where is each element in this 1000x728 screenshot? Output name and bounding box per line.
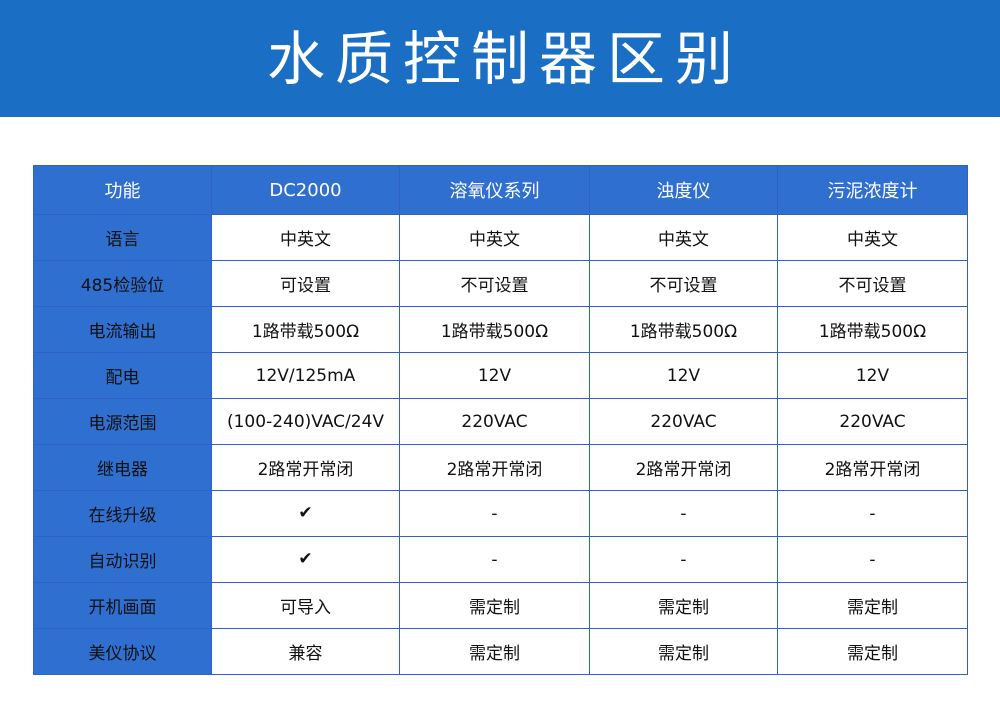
row-label: 美仪协议 [34, 629, 212, 675]
cell-value: 12V [590, 353, 778, 399]
table-header-row: 功能DC2000溶氧仪系列浊度仪污泥浓度计 [34, 166, 968, 215]
cell-value: 1路带载500Ω [400, 307, 590, 353]
table-row: 继电器2路常开常闭2路常开常闭2路常开常闭2路常开常闭 [34, 445, 968, 491]
cell-value: 1路带载500Ω [590, 307, 778, 353]
table-row: 在线升级✔--- [34, 491, 968, 537]
row-label: 电流输出 [34, 307, 212, 353]
row-label: 自动识别 [34, 537, 212, 583]
cell-value: 220VAC [400, 399, 590, 445]
row-label: 开机画面 [34, 583, 212, 629]
table-row: 开机画面可导入需定制需定制需定制 [34, 583, 968, 629]
water-quality-controller-comparison-table: 功能DC2000溶氧仪系列浊度仪污泥浓度计语言中英文中英文中英文中英文485检验… [33, 165, 968, 675]
table-row: 语言中英文中英文中英文中英文 [34, 215, 968, 261]
cell-value: 1路带载500Ω [212, 307, 400, 353]
cell-value: 需定制 [778, 629, 968, 675]
cell-value: 需定制 [400, 583, 590, 629]
column-header-0: 功能 [34, 166, 212, 215]
table-row: 配电12V/125mA12V12V12V [34, 353, 968, 399]
row-label: 配电 [34, 353, 212, 399]
cell-value: - [778, 537, 968, 583]
cell-value: 中英文 [778, 215, 968, 261]
row-label: 语言 [34, 215, 212, 261]
row-label: 在线升级 [34, 491, 212, 537]
cell-value: 可设置 [212, 261, 400, 307]
comparison-table-container: 功能DC2000溶氧仪系列浊度仪污泥浓度计语言中英文中英文中英文中英文485检验… [0, 117, 1000, 675]
cell-value: 不可设置 [778, 261, 968, 307]
table-row: 美仪协议兼容需定制需定制需定制 [34, 629, 968, 675]
row-label: 电源范围 [34, 399, 212, 445]
cell-value: 需定制 [400, 629, 590, 675]
cell-value: 需定制 [590, 629, 778, 675]
cell-value: 2路常开常闭 [590, 445, 778, 491]
cell-value: 220VAC [778, 399, 968, 445]
column-header-2: 溶氧仪系列 [400, 166, 590, 215]
cell-value: 中英文 [400, 215, 590, 261]
cell-value: 12V [400, 353, 590, 399]
cell-value: 中英文 [212, 215, 400, 261]
page-banner: 水质控制器区别 [0, 0, 1000, 117]
cell-value: 不可设置 [590, 261, 778, 307]
table-row: 自动识别✔--- [34, 537, 968, 583]
cell-value: - [400, 537, 590, 583]
cell-value: 1路带载500Ω [778, 307, 968, 353]
page-title: 水质控制器区别 [257, 30, 743, 88]
cell-value: - [590, 537, 778, 583]
cell-value: - [400, 491, 590, 537]
cell-value: - [590, 491, 778, 537]
check-icon: ✔ [212, 537, 400, 583]
cell-value: 2路常开常闭 [400, 445, 590, 491]
cell-value: (100-240)VAC/24V [212, 399, 400, 445]
cell-value: 兼容 [212, 629, 400, 675]
row-label: 继电器 [34, 445, 212, 491]
column-header-4: 污泥浓度计 [778, 166, 968, 215]
cell-value: 2路常开常闭 [212, 445, 400, 491]
table-row: 电流输出1路带载500Ω1路带载500Ω1路带载500Ω1路带载500Ω [34, 307, 968, 353]
cell-value: 需定制 [590, 583, 778, 629]
row-label: 485检验位 [34, 261, 212, 307]
cell-value: 可导入 [212, 583, 400, 629]
cell-value: 需定制 [778, 583, 968, 629]
cell-value: 中英文 [590, 215, 778, 261]
check-icon: ✔ [212, 491, 400, 537]
cell-value: 12V/125mA [212, 353, 400, 399]
cell-value: 12V [778, 353, 968, 399]
cell-value: 220VAC [590, 399, 778, 445]
table-row: 485检验位可设置不可设置不可设置不可设置 [34, 261, 968, 307]
cell-value: 2路常开常闭 [778, 445, 968, 491]
column-header-3: 浊度仪 [590, 166, 778, 215]
cell-value: 不可设置 [400, 261, 590, 307]
column-header-1: DC2000 [212, 166, 400, 215]
cell-value: - [778, 491, 968, 537]
table-row: 电源范围(100-240)VAC/24V220VAC220VAC220VAC [34, 399, 968, 445]
